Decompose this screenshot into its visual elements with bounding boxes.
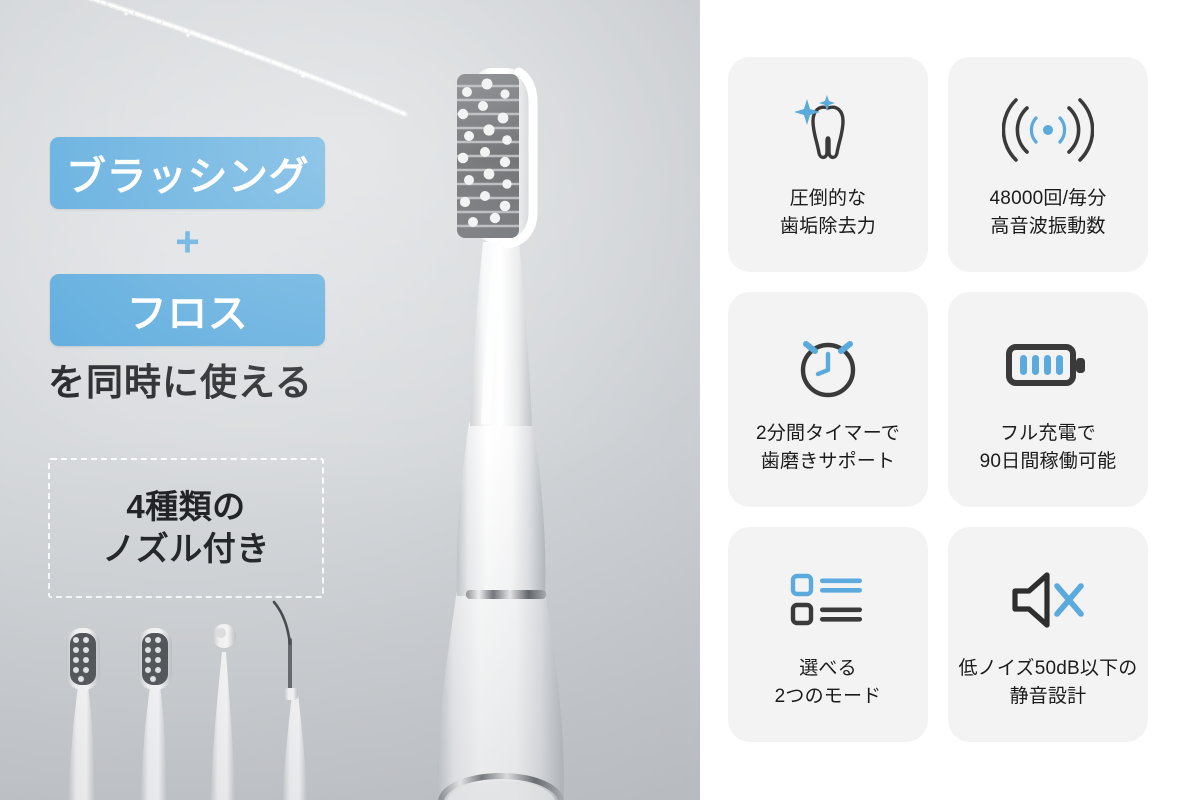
sonic-wave-icon [1002,91,1094,169]
plus-icon: + [50,209,325,274]
nozzle-count-callout: 4種類の ノズル付き [48,458,324,598]
nozzle-attachments-row [50,600,340,800]
feature-cards-panel: 圧倒的な 歯垢除去力 [700,0,1200,800]
feature-card-text: 48000回/毎分 高音波振動数 [990,185,1107,240]
feature-card-vibration-rate: 48000回/毎分 高音波振動数 [948,57,1148,272]
nozzle-brush-2 [138,628,172,800]
chip-floss: フロス [50,274,325,346]
product-feature-banner: ブラッシング + フロス を同時に使える 4種類の ノズル付き [0,0,1200,800]
alarm-clock-icon [788,326,868,404]
feature-card-plaque-removal: 圧倒的な 歯垢除去力 [728,57,928,272]
feature-line-1: 48000回/毎分 [990,185,1107,213]
feature-card-text: 圧倒的な 歯垢除去力 [780,185,876,240]
feature-line-2: 90日間稼働可能 [980,448,1117,476]
feature-card-text: 選べる 2つのモード [775,655,882,710]
headline-subtext: を同時に使える [48,352,388,406]
mode-list-icon [790,561,866,639]
battery-full-icon [1005,326,1091,404]
feature-line-2: 静音設計 [958,683,1137,711]
callout-line-1: 4種類の [126,487,245,527]
feature-card-two-modes: 選べる 2つのモード [728,527,928,742]
toothbrush-product-image [395,30,635,800]
feature-line-2: 高音波振動数 [990,213,1107,241]
feature-line-1: 低ノイズ50dB以下の [958,655,1137,683]
nozzle-polish-tip [210,624,236,800]
nozzle-scaler-tip [274,602,308,800]
chip-brushing: ブラッシング [50,137,325,209]
feature-card-battery-life: フル充電で 90日間稼働可能 [948,292,1148,507]
feature-card-text: 低ノイズ50dB以下の 静音設計 [958,655,1137,710]
feature-card-text: 2分間タイマーで 歯磨きサポート [756,420,900,475]
feature-line-2: 2つのモード [775,683,882,711]
feature-card-two-minute-timer: 2分間タイマーで 歯磨きサポート [728,292,928,507]
product-photo-panel: ブラッシング + フロス を同時に使える 4種類の ノズル付き [0,0,700,800]
feature-card-text: フル充電で 90日間稼働可能 [980,420,1117,475]
feature-line-1: 2分間タイマーで [756,420,900,448]
callout-line-2: ノズル付き [102,529,270,569]
feature-line-1: 選べる [775,655,882,683]
feature-line-1: 圧倒的な [780,185,876,213]
feature-card-grid: 圧倒的な 歯垢除去力 [728,57,1148,742]
water-jet-stream [60,0,480,144]
tooth-sparkle-icon [785,91,871,169]
nozzle-brush-1 [66,628,100,800]
feature-line-2: 歯垢除去力 [780,213,876,241]
feature-line-1: フル充電で [980,420,1117,448]
mute-speaker-icon [1007,561,1089,639]
feature-line-2: 歯磨きサポート [756,448,900,476]
feature-card-low-noise: 低ノイズ50dB以下の 静音設計 [948,527,1148,742]
